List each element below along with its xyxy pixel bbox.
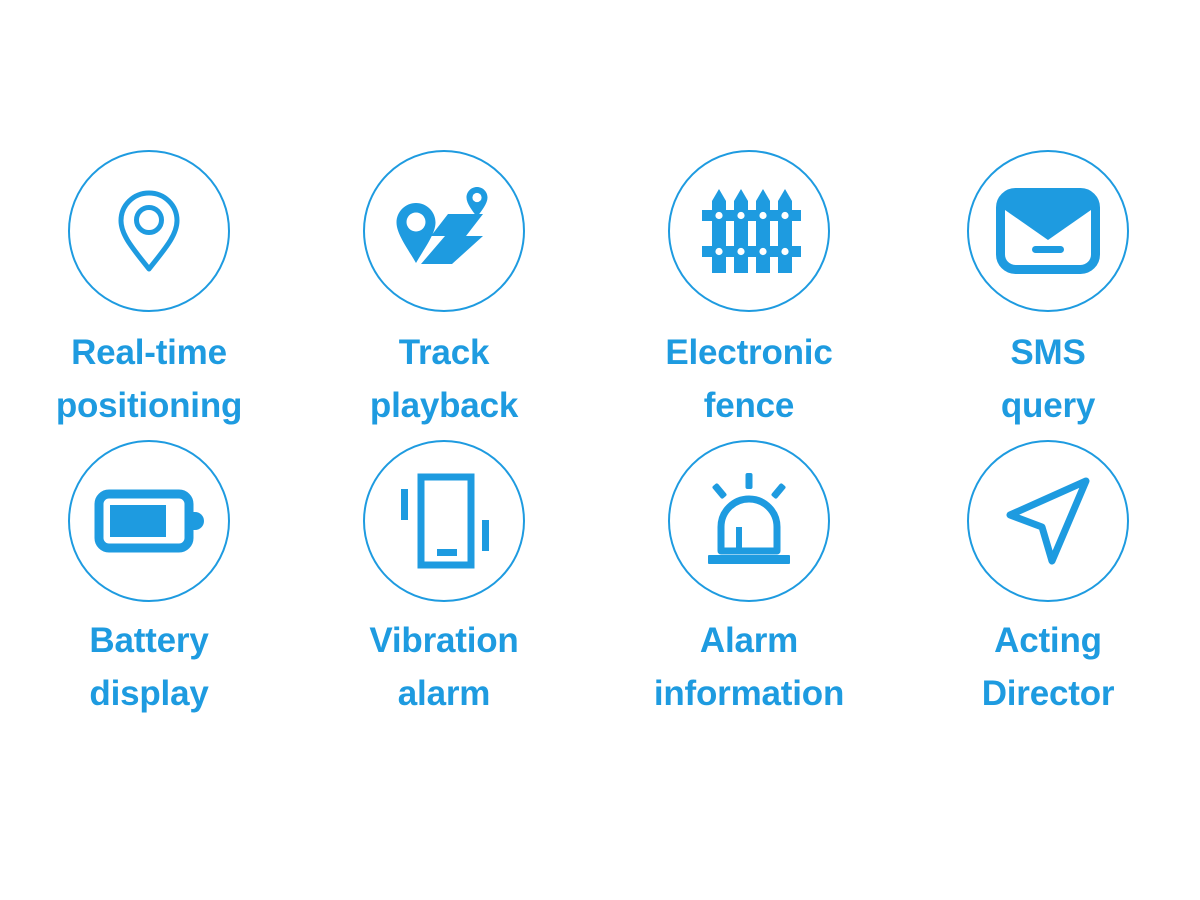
map-pin-icon (97, 179, 201, 283)
feature-card-track-playback[interactable]: Track playback (300, 150, 600, 440)
battery-icon (94, 486, 204, 556)
feature-label: Vibration alarm (369, 614, 518, 720)
feature-card-alarm-information[interactable]: Alarm information (600, 440, 900, 730)
picket-fence-icon (697, 183, 801, 279)
icon-ring (68, 150, 230, 312)
icon-ring (68, 440, 230, 602)
siren-alarm-icon (694, 471, 804, 571)
feature-label: Electronic fence (665, 326, 832, 432)
feature-label: Battery display (89, 614, 208, 720)
feature-card-sms-query[interactable]: SMS query (900, 150, 1200, 440)
envelope-icon (996, 188, 1100, 274)
icon-ring (363, 150, 525, 312)
feature-card-battery-display[interactable]: Battery display (0, 440, 300, 730)
feature-card-vibration-alarm[interactable]: Vibration alarm (300, 440, 600, 730)
feature-card-real-time-positioning[interactable]: Real-time positioning (0, 150, 300, 440)
vibrating-phone-icon (392, 471, 496, 571)
icon-ring (363, 440, 525, 602)
feature-label: Acting Director (982, 614, 1115, 720)
feature-label: Alarm information (654, 614, 844, 720)
icon-ring (668, 150, 830, 312)
feature-label: Track playback (370, 326, 518, 432)
feature-grid: Real-time positioning (0, 150, 1200, 730)
feature-label: Real-time positioning (56, 326, 242, 432)
icon-ring (967, 150, 1129, 312)
icon-ring (668, 440, 830, 602)
feature-card-electronic-fence[interactable]: Electronic fence (600, 150, 900, 440)
icon-ring (967, 440, 1129, 602)
feature-label: SMS query (1001, 326, 1095, 432)
navigation-arrow-icon (998, 471, 1098, 571)
feature-grid-board: Real-time positioning (0, 0, 1200, 900)
route-track-icon (388, 179, 500, 283)
feature-card-acting-director[interactable]: Acting Director (900, 440, 1200, 730)
